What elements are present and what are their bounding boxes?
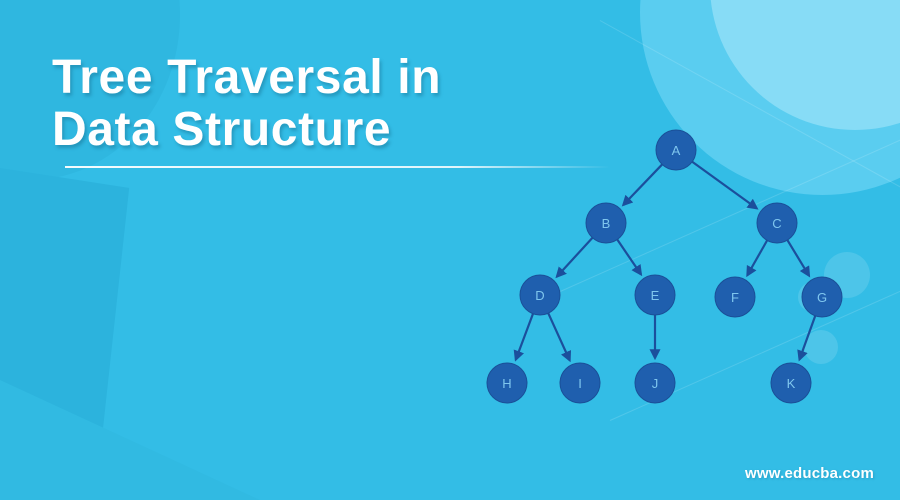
tree-node-j[interactable]: J: [635, 363, 675, 403]
tree-node-label-c: C: [772, 216, 781, 231]
tree-node-i[interactable]: I: [560, 363, 600, 403]
tree-node-label-k: K: [787, 376, 796, 391]
tree-node-b[interactable]: B: [586, 203, 626, 243]
tree-edge-c-g: [787, 240, 809, 276]
tree-node-f[interactable]: F: [715, 277, 755, 317]
footer-website-url: www.educba.com: [745, 465, 874, 482]
tree-node-a[interactable]: A: [656, 130, 696, 170]
tree-node-label-g: G: [817, 290, 827, 305]
tree-edge-d-h: [516, 314, 533, 360]
tree-node-h[interactable]: H: [487, 363, 527, 403]
tree-edge-a-b: [623, 164, 662, 205]
tree-node-label-a: A: [672, 143, 681, 158]
tree-node-label-j: J: [652, 376, 659, 391]
tree-edge-d-i: [548, 313, 569, 360]
tree-edge-c-f: [747, 240, 767, 275]
tree-edge-g-k: [799, 316, 815, 360]
tree-node-d[interactable]: D: [520, 275, 560, 315]
tree-node-k[interactable]: K: [771, 363, 811, 403]
binary-tree-diagram: ABCDEFGHIJK: [0, 0, 900, 500]
tree-node-label-i: I: [578, 376, 582, 391]
banner-canvas: Tree Traversal in Data Structure ABCDEFG…: [0, 0, 900, 500]
tree-node-e[interactable]: E: [635, 275, 675, 315]
tree-edge-b-e: [617, 240, 641, 275]
tree-node-c[interactable]: C: [757, 203, 797, 243]
tree-edge-b-d: [557, 238, 593, 277]
tree-node-label-e: E: [651, 288, 660, 303]
tree-node-label-d: D: [535, 288, 544, 303]
tree-node-label-b: B: [602, 216, 611, 231]
tree-edges: [516, 162, 815, 361]
tree-edge-a-c: [692, 162, 757, 209]
tree-node-label-f: F: [731, 290, 739, 305]
tree-node-label-h: H: [502, 376, 511, 391]
tree-nodes: ABCDEFGHIJK: [487, 130, 842, 403]
tree-node-g[interactable]: G: [802, 277, 842, 317]
